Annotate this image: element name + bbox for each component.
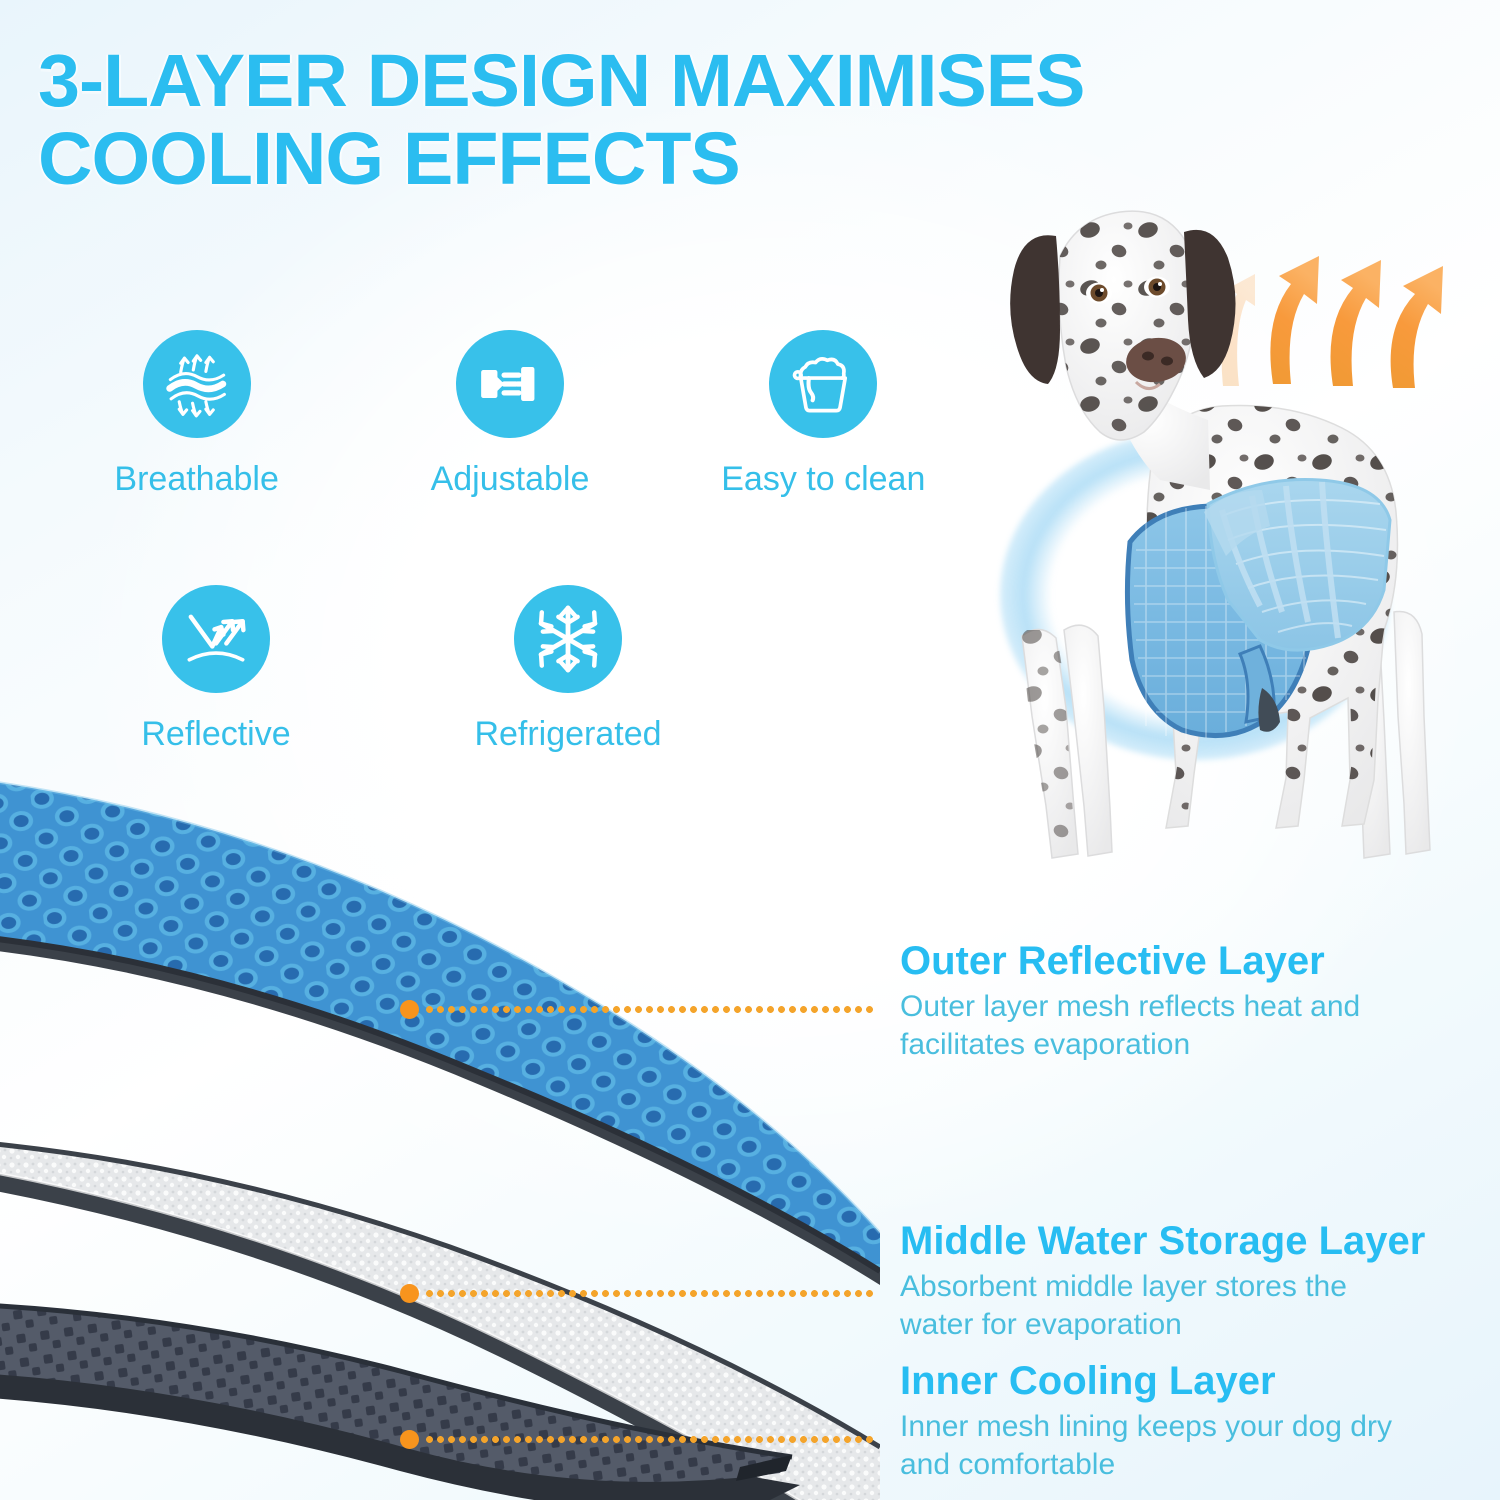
- headline-line-1: 3-LAYER DESIGN MAXIMISES: [38, 42, 1221, 120]
- callout-title: Outer Reflective Layer: [900, 938, 1500, 984]
- connector-middle-layer: [400, 1284, 875, 1302]
- feature-label: Easy to clean: [721, 460, 925, 499]
- callout-title: Middle Water Storage Layer: [900, 1218, 1500, 1264]
- callout-body-line: and comfortable: [900, 1446, 1500, 1484]
- dalmatian-illustration: [960, 160, 1500, 890]
- feature-row-2: Reflective: [40, 585, 980, 754]
- connector-dot: [400, 1000, 419, 1019]
- feature-easy-to-clean: Easy to clean: [667, 330, 980, 499]
- callout-body: Absorbent middle layer stores the water …: [900, 1268, 1500, 1344]
- callout-inner-cooling-layer: Inner Cooling Layer Inner mesh lining ke…: [900, 1358, 1500, 1484]
- connector-dotted-line: [424, 1006, 875, 1013]
- callout-body: Outer layer mesh reflects heat and facil…: [900, 988, 1500, 1064]
- callout-body-line: Absorbent middle layer stores the: [900, 1268, 1500, 1306]
- connector-dotted-line: [424, 1436, 875, 1443]
- dog-ear-left: [1010, 235, 1060, 384]
- connector-dot: [400, 1430, 419, 1449]
- callout-body-line: facilitates evaporation: [900, 1026, 1500, 1064]
- dog-head: [1010, 200, 1235, 490]
- wash-basin-bubbles-icon: [769, 330, 877, 438]
- feature-label: Reflective: [141, 715, 290, 754]
- feature-icon-grid: Breathable Adjustable: [40, 330, 980, 754]
- buckle-clip-icon: [456, 330, 564, 438]
- callout-body: Inner mesh lining keeps your dog dry and…: [900, 1408, 1500, 1484]
- callout-body-line: water for evaporation: [900, 1306, 1500, 1344]
- reflect-arrows-icon: [162, 585, 270, 693]
- three-layer-fabric-diagram: [0, 755, 880, 1500]
- callout-body-line: Inner mesh lining keeps your dog dry: [900, 1408, 1500, 1446]
- feature-row-1: Breathable Adjustable: [40, 330, 980, 499]
- snowflake-icon: [514, 585, 622, 693]
- feature-breathable: Breathable: [40, 330, 353, 499]
- infographic-page: 3-LAYER DESIGN MAXIMISES COOLING EFFECTS: [0, 0, 1500, 1500]
- dog-ear-right: [1184, 230, 1236, 378]
- feature-label: Breathable: [114, 460, 278, 499]
- connector-dotted-line: [424, 1290, 875, 1297]
- dog-front-legs: [1020, 625, 1120, 860]
- connector-outer-layer: [400, 1000, 875, 1018]
- callout-title: Inner Cooling Layer: [900, 1358, 1500, 1404]
- feature-refrigerated: Refrigerated: [392, 585, 744, 754]
- feature-adjustable: Adjustable: [353, 330, 666, 499]
- feature-row-spacer: [40, 499, 980, 585]
- feature-label: Refrigerated: [474, 715, 661, 754]
- breathable-fabric-airflow-icon: [143, 330, 251, 438]
- feature-reflective: Reflective: [40, 585, 392, 754]
- callout-body-line: Outer layer mesh reflects heat and: [900, 988, 1500, 1026]
- feature-label: Adjustable: [431, 460, 590, 499]
- connector-inner-layer: [400, 1430, 875, 1448]
- connector-dot: [400, 1284, 419, 1303]
- callout-outer-reflective-layer: Outer Reflective Layer Outer layer mesh …: [900, 938, 1500, 1064]
- product-photo-dog-wearing-vest: [960, 160, 1500, 890]
- callout-middle-water-storage-layer: Middle Water Storage Layer Absorbent mid…: [900, 1218, 1500, 1344]
